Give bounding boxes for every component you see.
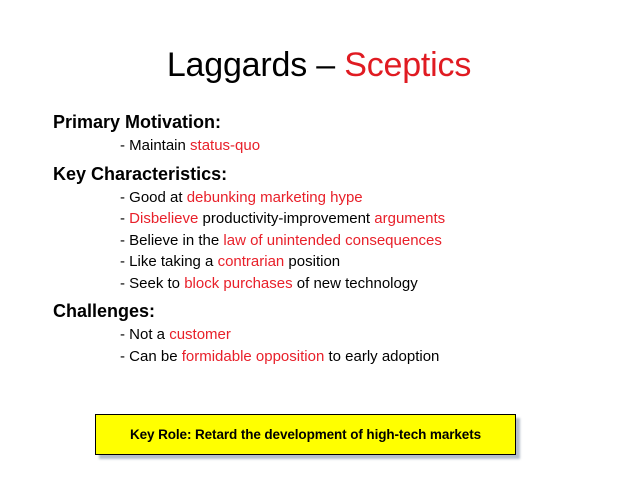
item-text-highlight: contrarian <box>218 253 285 270</box>
item-text-plain-2: position <box>284 253 340 270</box>
item-text-highlight: block purchases <box>184 275 292 292</box>
item-text-plain-2: to early adoption <box>324 348 439 365</box>
item-text-plain: - Like taking a <box>120 253 218 270</box>
section-item-list: - Maintain status-quo <box>53 135 593 157</box>
slide-body: Primary Motivation: - Maintain status-qu… <box>53 110 593 367</box>
item-text-highlight: customer <box>169 326 231 343</box>
item-text-highlight-2: arguments <box>374 210 445 227</box>
list-item: - Seek to block purchases of new technol… <box>120 273 593 295</box>
list-item: - Good at debunking marketing hype <box>120 187 593 209</box>
section-item-list: - Good at debunking marketing hype - Dis… <box>53 187 593 295</box>
item-text-plain: - Not a <box>120 326 169 343</box>
item-text-plain: - <box>120 210 129 227</box>
item-text-highlight: law of unintended consequences <box>223 232 442 249</box>
item-text-highlight: formidable opposition <box>182 348 325 365</box>
section-heading: Challenges: <box>53 299 593 324</box>
callout-text: Key Role: Retard the development of high… <box>130 427 481 442</box>
item-text-plain: - Believe in the <box>120 232 223 249</box>
item-text-highlight: debunking marketing hype <box>187 189 363 206</box>
item-text-plain-2: productivity-improvement <box>198 210 374 227</box>
item-text-highlight: Disbelieve <box>129 210 198 227</box>
callout-box: Key Role: Retard the development of high… <box>95 414 516 455</box>
section-challenges: Challenges: - Not a customer - Can be fo… <box>53 299 593 367</box>
list-item: - Maintain status-quo <box>120 135 593 157</box>
section-heading: Primary Motivation: <box>53 110 593 135</box>
section-primary-motivation: Primary Motivation: - Maintain status-qu… <box>53 110 593 157</box>
title-black-text: Laggards – <box>167 46 344 84</box>
list-item: - Can be formidable opposition to early … <box>120 346 593 368</box>
item-text-plain: - Good at <box>120 189 187 206</box>
slide-canvas: Laggards – Sceptics Primary Motivation: … <box>0 0 638 479</box>
item-text-plain: - Can be <box>120 348 182 365</box>
item-text-highlight: status-quo <box>190 137 260 154</box>
list-item: - Disbelieve productivity-improvement ar… <box>120 208 593 230</box>
section-heading: Key Characteristics: <box>53 162 593 187</box>
section-key-characteristics: Key Characteristics: - Good at debunking… <box>53 162 593 295</box>
list-item: - Like taking a contrarian position <box>120 251 593 273</box>
page-title: Laggards – Sceptics <box>0 45 638 85</box>
section-item-list: - Not a customer - Can be formidable opp… <box>53 324 593 367</box>
list-item: - Not a customer <box>120 324 593 346</box>
title-red-text: Sceptics <box>344 46 471 84</box>
list-item: - Believe in the law of unintended conse… <box>120 230 593 252</box>
item-text-plain-2: of new technology <box>293 275 418 292</box>
item-text-plain: - Seek to <box>120 275 184 292</box>
key-role-callout: Key Role: Retard the development of high… <box>95 414 516 455</box>
item-text-plain: - Maintain <box>120 137 190 154</box>
